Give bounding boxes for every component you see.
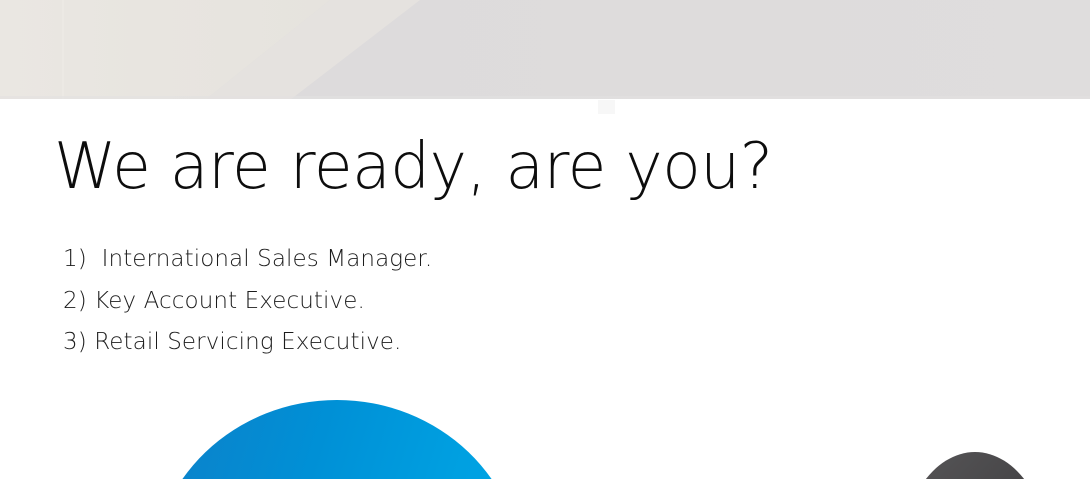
faint-gray-marker xyxy=(598,100,615,114)
list-item: 1) International Sales Manager. xyxy=(63,239,432,281)
dark-ellipse-shape xyxy=(899,452,1051,479)
slide-canvas: We are ready, are you? 1) International … xyxy=(0,0,1090,479)
top-band-graphic xyxy=(0,0,1090,99)
page-title: We are ready, are you? xyxy=(54,134,773,198)
band-seam-line xyxy=(62,0,64,99)
band-bottom-strip xyxy=(0,96,1090,99)
list-item: 3) Retail Servicing Executive. xyxy=(63,322,432,364)
list-item: 2) Key Account Executive. xyxy=(63,281,432,323)
blue-ellipse-shape xyxy=(151,400,523,479)
job-openings-list: 1) International Sales Manager. 2) Key A… xyxy=(63,239,432,364)
top-decorative-band xyxy=(0,0,1090,99)
